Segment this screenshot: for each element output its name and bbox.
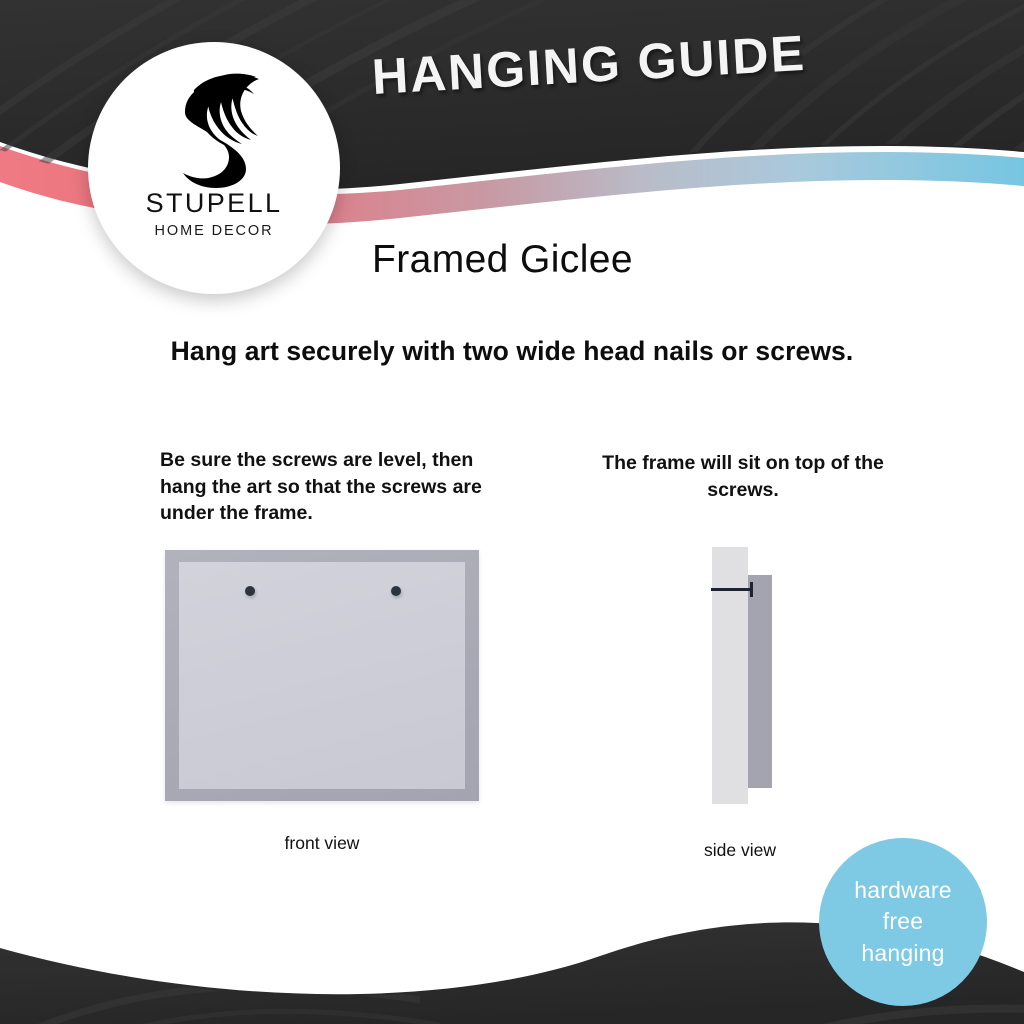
hardware-free-hanging-badge: hardware free hanging [819, 838, 987, 1006]
side-view-diagram [690, 540, 810, 820]
stupell-s-swoosh-logo-icon [154, 68, 274, 188]
logo-subwordmark: HOME DECOR [155, 224, 274, 239]
nail-shaft-icon [711, 588, 753, 591]
side-view-caption: side view [672, 840, 808, 861]
side-view-wall-surface [712, 547, 748, 804]
screw-dot-right-icon [391, 586, 401, 596]
front-view-art-panel [179, 562, 465, 789]
tagline-text: Hang art securely with two wide head nai… [0, 336, 1024, 367]
front-view-caption: front view [165, 833, 479, 854]
screw-dot-left-icon [245, 586, 255, 596]
side-view-instruction: The frame will sit on top of the screws. [588, 450, 898, 503]
logo-wordmark: STUPELL [146, 190, 283, 217]
side-view-frame-profile [748, 575, 772, 788]
nail-head-icon [750, 582, 753, 597]
page-title: HANGING GUIDE [370, 24, 807, 106]
product-type-label: Framed Giclee [372, 238, 633, 282]
front-view-instruction: Be sure the screws are level, then hang … [160, 447, 490, 527]
badge-line-2: free [883, 906, 923, 937]
brand-logo-badge: STUPELL HOME DECOR [88, 42, 340, 294]
front-view-frame-diagram [165, 550, 479, 801]
badge-line-1: hardware [854, 875, 952, 906]
badge-line-3: hanging [861, 938, 944, 969]
hanging-guide-page: STUPELL HOME DECOR HANGING GUIDE Framed … [0, 0, 1024, 1024]
